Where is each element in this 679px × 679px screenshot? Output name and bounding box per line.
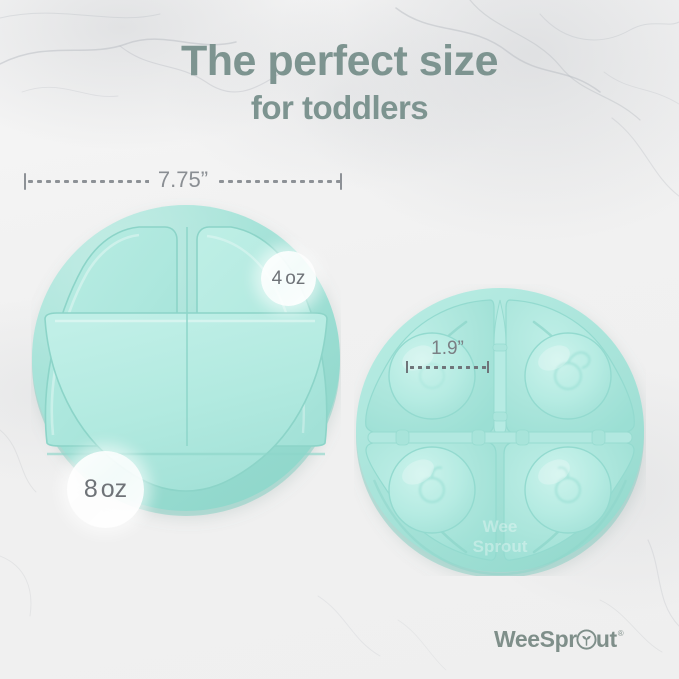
headline-primary: The perfect size (0, 36, 679, 86)
plate-width-label: 7.75” (149, 167, 217, 193)
plate-width-dimension: 7.75” (24, 168, 342, 194)
dimension-end-cap-right-small (487, 361, 489, 373)
suction-cup-lower-right (525, 447, 611, 533)
capacity-badge-8oz-amount: 8 (84, 475, 98, 504)
suction-cup-width-label: 1.9” (406, 338, 489, 360)
suction-cup-dimension-rule (406, 361, 489, 373)
sprout-icon (576, 629, 597, 650)
dimension-end-cap-right (340, 173, 342, 190)
headline-secondary: for toddlers (0, 88, 679, 128)
capacity-badge-4oz-amount: 4 (272, 268, 283, 290)
dimension-leader-right (217, 180, 340, 183)
capacity-badge-4oz-unit: oz (285, 268, 305, 290)
registered-trademark-symbol: ® (618, 629, 624, 639)
dimension-leader-small (408, 366, 487, 369)
capacity-badge-4oz: 4 oz (261, 251, 316, 306)
svg-text:Wee: Wee (483, 517, 518, 536)
brand-logo: WeeSpr ut ® (494, 626, 624, 652)
capacity-badge-8oz: 8 oz (67, 451, 144, 528)
svg-text:Sprout: Sprout (473, 537, 528, 556)
capacity-badge-8oz-unit: oz (101, 475, 127, 504)
brand-name-part1: WeeSpr (494, 626, 577, 652)
product-infographic: The perfect size for toddlers 7.75” (0, 0, 679, 679)
suction-cup-lower-left (389, 447, 475, 533)
suction-cup-upper-right (525, 333, 611, 419)
toddler-plate-underside-view: Wee Sprout (354, 284, 646, 576)
brand-name-part2: ut (596, 626, 617, 652)
suction-cup-width-dimension: 1.9” (406, 338, 489, 373)
dimension-leader-left (26, 180, 149, 183)
